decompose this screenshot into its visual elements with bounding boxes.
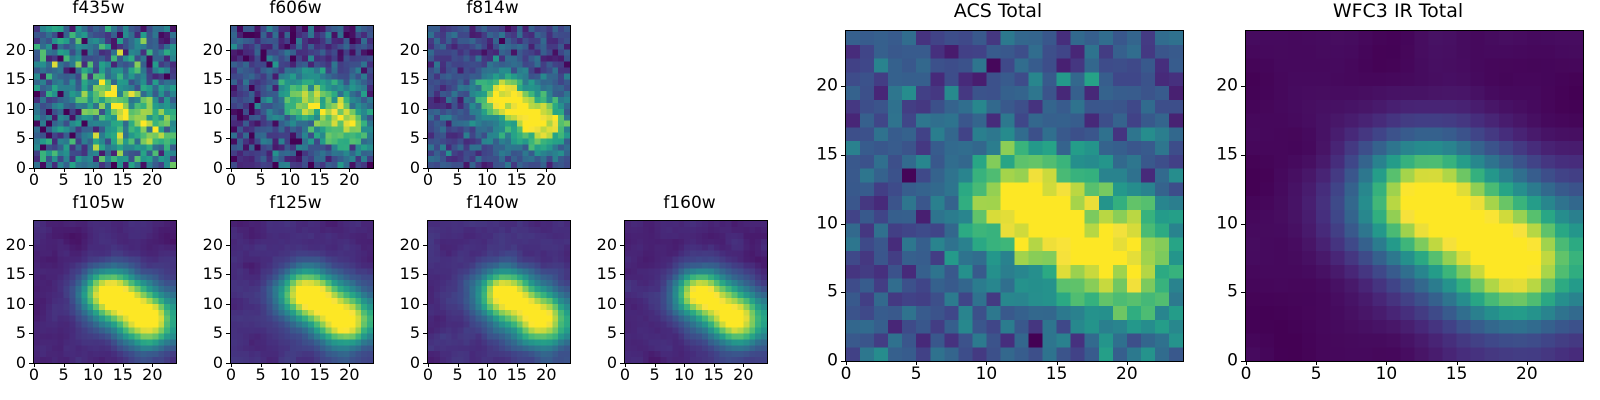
x-ticklabel-f606w-0: 0 (226, 172, 236, 188)
heatmap-f160w[interactable] (624, 220, 768, 364)
x-ticklabel-wfc3-ir-total-10: 10 (1376, 366, 1398, 383)
x-ticklabel-f814w-0: 0 (423, 172, 433, 188)
x-ticklabel-f435w-20: 20 (142, 172, 162, 188)
y-tick-f160w-0 (620, 363, 624, 364)
x-ticklabel-f606w-5: 5 (255, 172, 265, 188)
y-tick-f140w-0 (423, 363, 427, 364)
y-ticklabel-f435w-10: 10 (0, 101, 26, 117)
y-tick-f814w-15 (423, 79, 427, 80)
y-tick-f105w-15 (29, 274, 33, 275)
y-tick-f606w-0 (226, 168, 230, 169)
y-ticklabel-acs-total-15: 15 (798, 146, 838, 163)
panel-title-f435w: f435w (0, 0, 197, 17)
y-tick-f814w-20 (423, 50, 427, 51)
x-ticklabel-f160w-10: 10 (674, 367, 694, 383)
heatmap-f140w[interactable] (427, 220, 571, 364)
panel-title-f125w: f125w (197, 195, 394, 212)
x-ticklabel-acs-total-0: 0 (841, 366, 852, 383)
x-ticklabel-f105w-20: 20 (142, 367, 162, 383)
y-tick-f140w-10 (423, 304, 427, 305)
y-ticklabel-f160w-5: 5 (591, 325, 617, 341)
y-tick-f606w-10 (226, 109, 230, 110)
y-tick-acs-total-0 (841, 361, 845, 362)
y-tick-f435w-0 (29, 168, 33, 169)
panel-f105w: f105w0055101015152020 (0, 195, 197, 390)
y-tick-f606w-15 (226, 79, 230, 80)
panel-f814w: f814w0055101015152020 (394, 0, 591, 195)
panel-f140w: f140w0055101015152020 (394, 195, 591, 390)
y-tick-acs-total-15 (841, 155, 845, 156)
x-ticklabel-acs-total-5: 5 (911, 366, 922, 383)
y-tick-f105w-20 (29, 245, 33, 246)
x-ticklabel-f160w-5: 5 (649, 367, 659, 383)
y-tick-f125w-15 (226, 274, 230, 275)
heatmap-f435w[interactable] (33, 25, 177, 169)
panel-f435w: f435w0055101015152020 (0, 0, 197, 195)
y-ticklabel-f105w-15: 15 (0, 266, 26, 282)
y-ticklabel-f606w-5: 5 (197, 130, 223, 146)
x-ticklabel-f125w-15: 15 (310, 367, 330, 383)
x-ticklabel-f814w-10: 10 (477, 172, 497, 188)
y-tick-acs-total-10 (841, 224, 845, 225)
heatmap-canvas-f435w (34, 26, 176, 168)
x-ticklabel-wfc3-ir-total-5: 5 (1311, 366, 1322, 383)
y-ticklabel-f435w-5: 5 (0, 130, 26, 146)
x-ticklabel-f140w-0: 0 (423, 367, 433, 383)
y-tick-wfc3-ir-total-15 (1241, 155, 1245, 156)
y-ticklabel-f435w-15: 15 (0, 71, 26, 87)
heatmap-canvas-f814w (428, 26, 570, 168)
y-tick-f160w-20 (620, 245, 624, 246)
heatmap-canvas-wfc3-ir-total (1246, 31, 1583, 361)
y-ticklabel-acs-total-20: 20 (798, 78, 838, 95)
y-ticklabel-f105w-20: 20 (0, 237, 26, 253)
y-tick-f814w-5 (423, 138, 427, 139)
x-ticklabel-acs-total-15: 15 (1046, 366, 1068, 383)
heatmap-acs-total[interactable] (845, 30, 1184, 362)
heatmap-f125w[interactable] (230, 220, 374, 364)
y-tick-f105w-5 (29, 333, 33, 334)
y-ticklabel-f105w-5: 5 (0, 325, 26, 341)
y-tick-acs-total-5 (841, 292, 845, 293)
y-ticklabel-acs-total-0: 0 (798, 353, 838, 370)
y-tick-wfc3-ir-total-0 (1241, 361, 1245, 362)
y-ticklabel-f606w-15: 15 (197, 71, 223, 87)
panel-title-f606w: f606w (197, 0, 394, 17)
panel-f160w: f160w0055101015152020 (591, 195, 788, 390)
x-ticklabel-f814w-5: 5 (452, 172, 462, 188)
x-ticklabel-f160w-15: 15 (704, 367, 724, 383)
y-ticklabel-f814w-20: 20 (394, 42, 420, 58)
panel-f125w: f125w0055101015152020 (197, 195, 394, 390)
x-ticklabel-f105w-10: 10 (83, 367, 103, 383)
y-ticklabel-wfc3-ir-total-10: 10 (1198, 215, 1238, 232)
y-tick-f435w-15 (29, 79, 33, 80)
x-ticklabel-f105w-0: 0 (29, 367, 39, 383)
y-tick-f125w-20 (226, 245, 230, 246)
heatmap-f814w[interactable] (427, 25, 571, 169)
y-ticklabel-wfc3-ir-total-15: 15 (1198, 146, 1238, 163)
y-ticklabel-f160w-15: 15 (591, 266, 617, 282)
y-ticklabel-f105w-10: 10 (0, 296, 26, 312)
x-ticklabel-f140w-15: 15 (507, 367, 527, 383)
y-tick-f140w-20 (423, 245, 427, 246)
panel-title-f140w: f140w (394, 195, 591, 212)
heatmap-canvas-f125w (231, 221, 373, 363)
heatmap-canvas-acs-total (846, 31, 1183, 361)
y-ticklabel-f140w-15: 15 (394, 266, 420, 282)
x-ticklabel-f140w-10: 10 (477, 367, 497, 383)
y-ticklabel-wfc3-ir-total-5: 5 (1198, 284, 1238, 301)
x-ticklabel-wfc3-ir-total-15: 15 (1446, 366, 1468, 383)
x-ticklabel-f125w-5: 5 (255, 367, 265, 383)
x-ticklabel-f606w-20: 20 (339, 172, 359, 188)
heatmap-f105w[interactable] (33, 220, 177, 364)
y-ticklabel-f125w-15: 15 (197, 266, 223, 282)
x-ticklabel-f140w-5: 5 (452, 367, 462, 383)
panel-title-f814w: f814w (394, 0, 591, 17)
x-ticklabel-f160w-0: 0 (620, 367, 630, 383)
panel-wfc3-ir-total: WFC3 IR Total0055101015152020 (1198, 0, 1598, 400)
y-tick-acs-total-20 (841, 86, 845, 87)
x-ticklabel-f140w-20: 20 (536, 367, 556, 383)
y-ticklabel-acs-total-10: 10 (798, 215, 838, 232)
y-ticklabel-f125w-5: 5 (197, 325, 223, 341)
x-ticklabel-f105w-5: 5 (58, 367, 68, 383)
x-ticklabel-f814w-15: 15 (507, 172, 527, 188)
y-tick-wfc3-ir-total-5 (1241, 292, 1245, 293)
y-tick-f125w-0 (226, 363, 230, 364)
x-ticklabel-f606w-15: 15 (310, 172, 330, 188)
y-tick-f435w-5 (29, 138, 33, 139)
y-ticklabel-f160w-10: 10 (591, 296, 617, 312)
y-ticklabel-f140w-20: 20 (394, 237, 420, 253)
heatmap-canvas-f606w (231, 26, 373, 168)
y-tick-f105w-0 (29, 363, 33, 364)
y-ticklabel-wfc3-ir-total-0: 0 (1198, 353, 1238, 370)
y-tick-wfc3-ir-total-20 (1241, 86, 1245, 87)
y-tick-wfc3-ir-total-10 (1241, 224, 1245, 225)
y-ticklabel-f125w-10: 10 (197, 296, 223, 312)
x-ticklabel-wfc3-ir-total-0: 0 (1241, 366, 1252, 383)
y-tick-f160w-15 (620, 274, 624, 275)
y-tick-f160w-5 (620, 333, 624, 334)
y-tick-f814w-10 (423, 109, 427, 110)
panel-title-acs-total: ACS Total (798, 2, 1198, 21)
heatmap-canvas-f105w (34, 221, 176, 363)
y-tick-f140w-5 (423, 333, 427, 334)
y-ticklabel-acs-total-5: 5 (798, 284, 838, 301)
y-ticklabel-f125w-0: 0 (197, 355, 223, 371)
heatmap-wfc3-ir-total[interactable] (1245, 30, 1584, 362)
x-ticklabel-f125w-0: 0 (226, 367, 236, 383)
panel-title-f105w: f105w (0, 195, 197, 212)
y-ticklabel-f160w-20: 20 (591, 237, 617, 253)
x-ticklabel-f125w-10: 10 (280, 367, 300, 383)
x-ticklabel-wfc3-ir-total-20: 20 (1516, 366, 1538, 383)
y-ticklabel-f606w-0: 0 (197, 160, 223, 176)
y-ticklabel-f105w-0: 0 (0, 355, 26, 371)
y-ticklabel-f125w-20: 20 (197, 237, 223, 253)
x-ticklabel-f105w-15: 15 (113, 367, 133, 383)
heatmap-canvas-f160w (625, 221, 767, 363)
panel-title-wfc3-ir-total: WFC3 IR Total (1198, 2, 1598, 21)
y-ticklabel-f140w-0: 0 (394, 355, 420, 371)
x-ticklabel-f435w-15: 15 (113, 172, 133, 188)
y-ticklabel-f435w-20: 20 (0, 42, 26, 58)
x-ticklabel-acs-total-10: 10 (976, 366, 998, 383)
y-tick-f160w-10 (620, 304, 624, 305)
y-ticklabel-f160w-0: 0 (591, 355, 617, 371)
y-tick-f125w-10 (226, 304, 230, 305)
y-tick-f814w-0 (423, 168, 427, 169)
y-tick-f435w-20 (29, 50, 33, 51)
panel-title-f160w: f160w (591, 195, 788, 212)
y-ticklabel-f814w-0: 0 (394, 160, 420, 176)
y-ticklabel-f140w-10: 10 (394, 296, 420, 312)
y-tick-f435w-10 (29, 109, 33, 110)
panel-acs-total: ACS Total0055101015152020 (798, 0, 1198, 400)
x-ticklabel-f435w-0: 0 (29, 172, 39, 188)
y-tick-f105w-10 (29, 304, 33, 305)
y-ticklabel-f606w-20: 20 (197, 42, 223, 58)
y-tick-f606w-5 (226, 138, 230, 139)
y-ticklabel-f606w-10: 10 (197, 101, 223, 117)
y-ticklabel-f814w-15: 15 (394, 71, 420, 87)
x-ticklabel-acs-total-20: 20 (1116, 366, 1138, 383)
y-ticklabel-f814w-5: 5 (394, 130, 420, 146)
y-tick-f125w-5 (226, 333, 230, 334)
y-ticklabel-f435w-0: 0 (0, 160, 26, 176)
y-tick-f140w-15 (423, 274, 427, 275)
heatmap-canvas-f140w (428, 221, 570, 363)
x-ticklabel-f435w-10: 10 (83, 172, 103, 188)
heatmap-f606w[interactable] (230, 25, 374, 169)
x-ticklabel-f160w-20: 20 (733, 367, 753, 383)
y-ticklabel-f140w-5: 5 (394, 325, 420, 341)
y-ticklabel-f814w-10: 10 (394, 101, 420, 117)
y-ticklabel-wfc3-ir-total-20: 20 (1198, 78, 1238, 95)
x-ticklabel-f435w-5: 5 (58, 172, 68, 188)
y-tick-f606w-20 (226, 50, 230, 51)
x-ticklabel-f814w-20: 20 (536, 172, 556, 188)
x-ticklabel-f606w-10: 10 (280, 172, 300, 188)
x-ticklabel-f125w-20: 20 (339, 367, 359, 383)
panel-f606w: f606w0055101015152020 (197, 0, 394, 195)
